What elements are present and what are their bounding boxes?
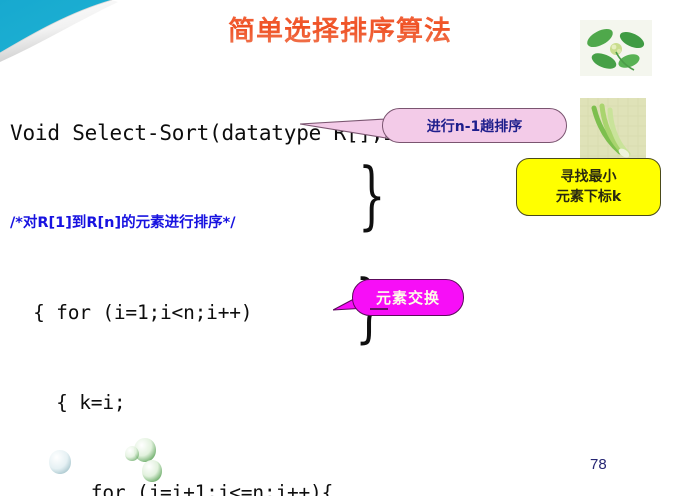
code-line-k-assign: { k=i; [10,388,458,418]
callout-find-min[interactable]: 寻找最小 元素下标k [516,158,661,216]
callout-pass-count-label: 进行n-1趟排序 [427,116,523,136]
page-title: 简单选择排序算法 [0,9,680,48]
callout-element-swap[interactable]: 元素交换 [352,279,464,316]
code-line-for-inner: for (j=i+1;j<=n;j++){ [10,478,458,496]
page-number: 78 [590,456,607,473]
callout-pass-count[interactable]: 进行n-1趟排序 [382,108,567,143]
callout-element-swap-label: 元素交换 [376,287,440,308]
code-line-comment: /*对R[1]到R[n]的元素进行排序*/ [10,208,458,238]
callout-find-min-line1: 寻找最小 [556,167,621,187]
slide-canvas: 简单选择排序算法 Void Select-S [0,0,680,496]
callout-find-min-line2: 元素下标k [556,187,621,207]
scallion-photo-icon [580,98,646,160]
